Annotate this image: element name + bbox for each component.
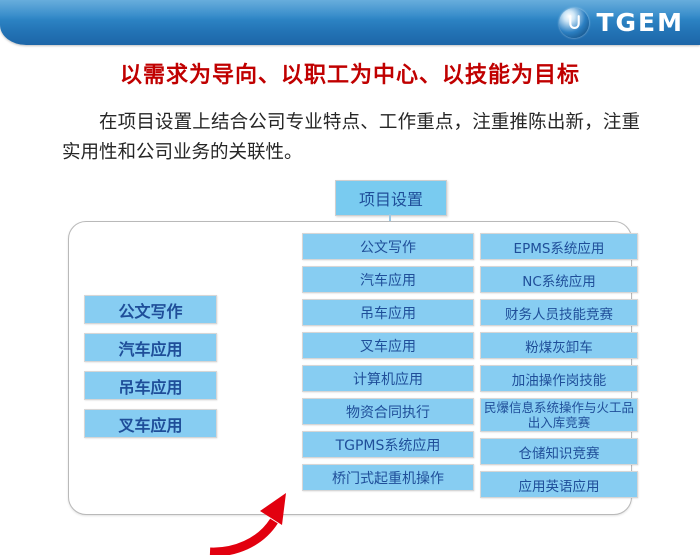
list-item[interactable]: NC系统应用 xyxy=(480,266,638,293)
list-item[interactable]: 公文写作 xyxy=(84,295,217,324)
list-item[interactable]: TGPMS系统应用 xyxy=(302,431,474,458)
project-setup-diagram: 项目设置 公文写作 汽车应用 吊车应用 叉车应用 公文写作 汽车应用 吊车应用 … xyxy=(0,180,700,536)
list-item[interactable]: 应用英语应用 xyxy=(480,471,638,498)
body-paragraph: 在项目设置上结合公司专业特点、工作重点，注重推陈出新，注重实用性和公司业务的关联… xyxy=(62,108,640,168)
list-item[interactable]: 财务人员技能竞赛 xyxy=(480,299,638,326)
brand-text: TGEM xyxy=(596,10,684,35)
list-item[interactable]: 仓储知识竞赛 xyxy=(480,438,638,465)
list-item[interactable]: 桥门式起重机操作 xyxy=(302,464,474,491)
right-project-column: EPMS系统应用 NC系统应用 财务人员技能竞赛 粉煤灰卸车 加油操作岗技能 民… xyxy=(480,233,638,498)
diagram-root-node[interactable]: 项目设置 xyxy=(335,180,447,216)
list-item[interactable]: 叉车应用 xyxy=(302,332,474,359)
left-category-column: 公文写作 汽车应用 吊车应用 叉车应用 xyxy=(84,295,217,438)
list-item[interactable]: EPMS系统应用 xyxy=(480,233,638,260)
list-item[interactable]: 民爆信息系统操作与火工品出入库竞赛 xyxy=(480,398,638,432)
page-title: 以需求为导向、以职工为中心、以技能为目标 xyxy=(0,57,700,89)
list-item[interactable]: 吊车应用 xyxy=(302,299,474,326)
header-bar: TGEM xyxy=(0,0,700,45)
list-item[interactable]: 叉车应用 xyxy=(84,409,217,438)
list-item[interactable]: 计算机应用 xyxy=(302,365,474,392)
u-emblem-icon xyxy=(559,8,589,38)
list-item[interactable]: 吊车应用 xyxy=(84,371,217,400)
middle-project-column: 公文写作 汽车应用 吊车应用 叉车应用 计算机应用 物资合同执行 TGPMS系统… xyxy=(302,233,474,491)
list-item[interactable]: 汽车应用 xyxy=(84,333,217,362)
list-item[interactable]: 粉煤灰卸车 xyxy=(480,332,638,359)
list-item[interactable]: 汽车应用 xyxy=(302,266,474,293)
brand-logo: TGEM xyxy=(559,6,684,39)
list-item[interactable]: 公文写作 xyxy=(302,233,474,260)
list-item[interactable]: 物资合同执行 xyxy=(302,398,474,425)
list-item[interactable]: 加油操作岗技能 xyxy=(480,365,638,392)
